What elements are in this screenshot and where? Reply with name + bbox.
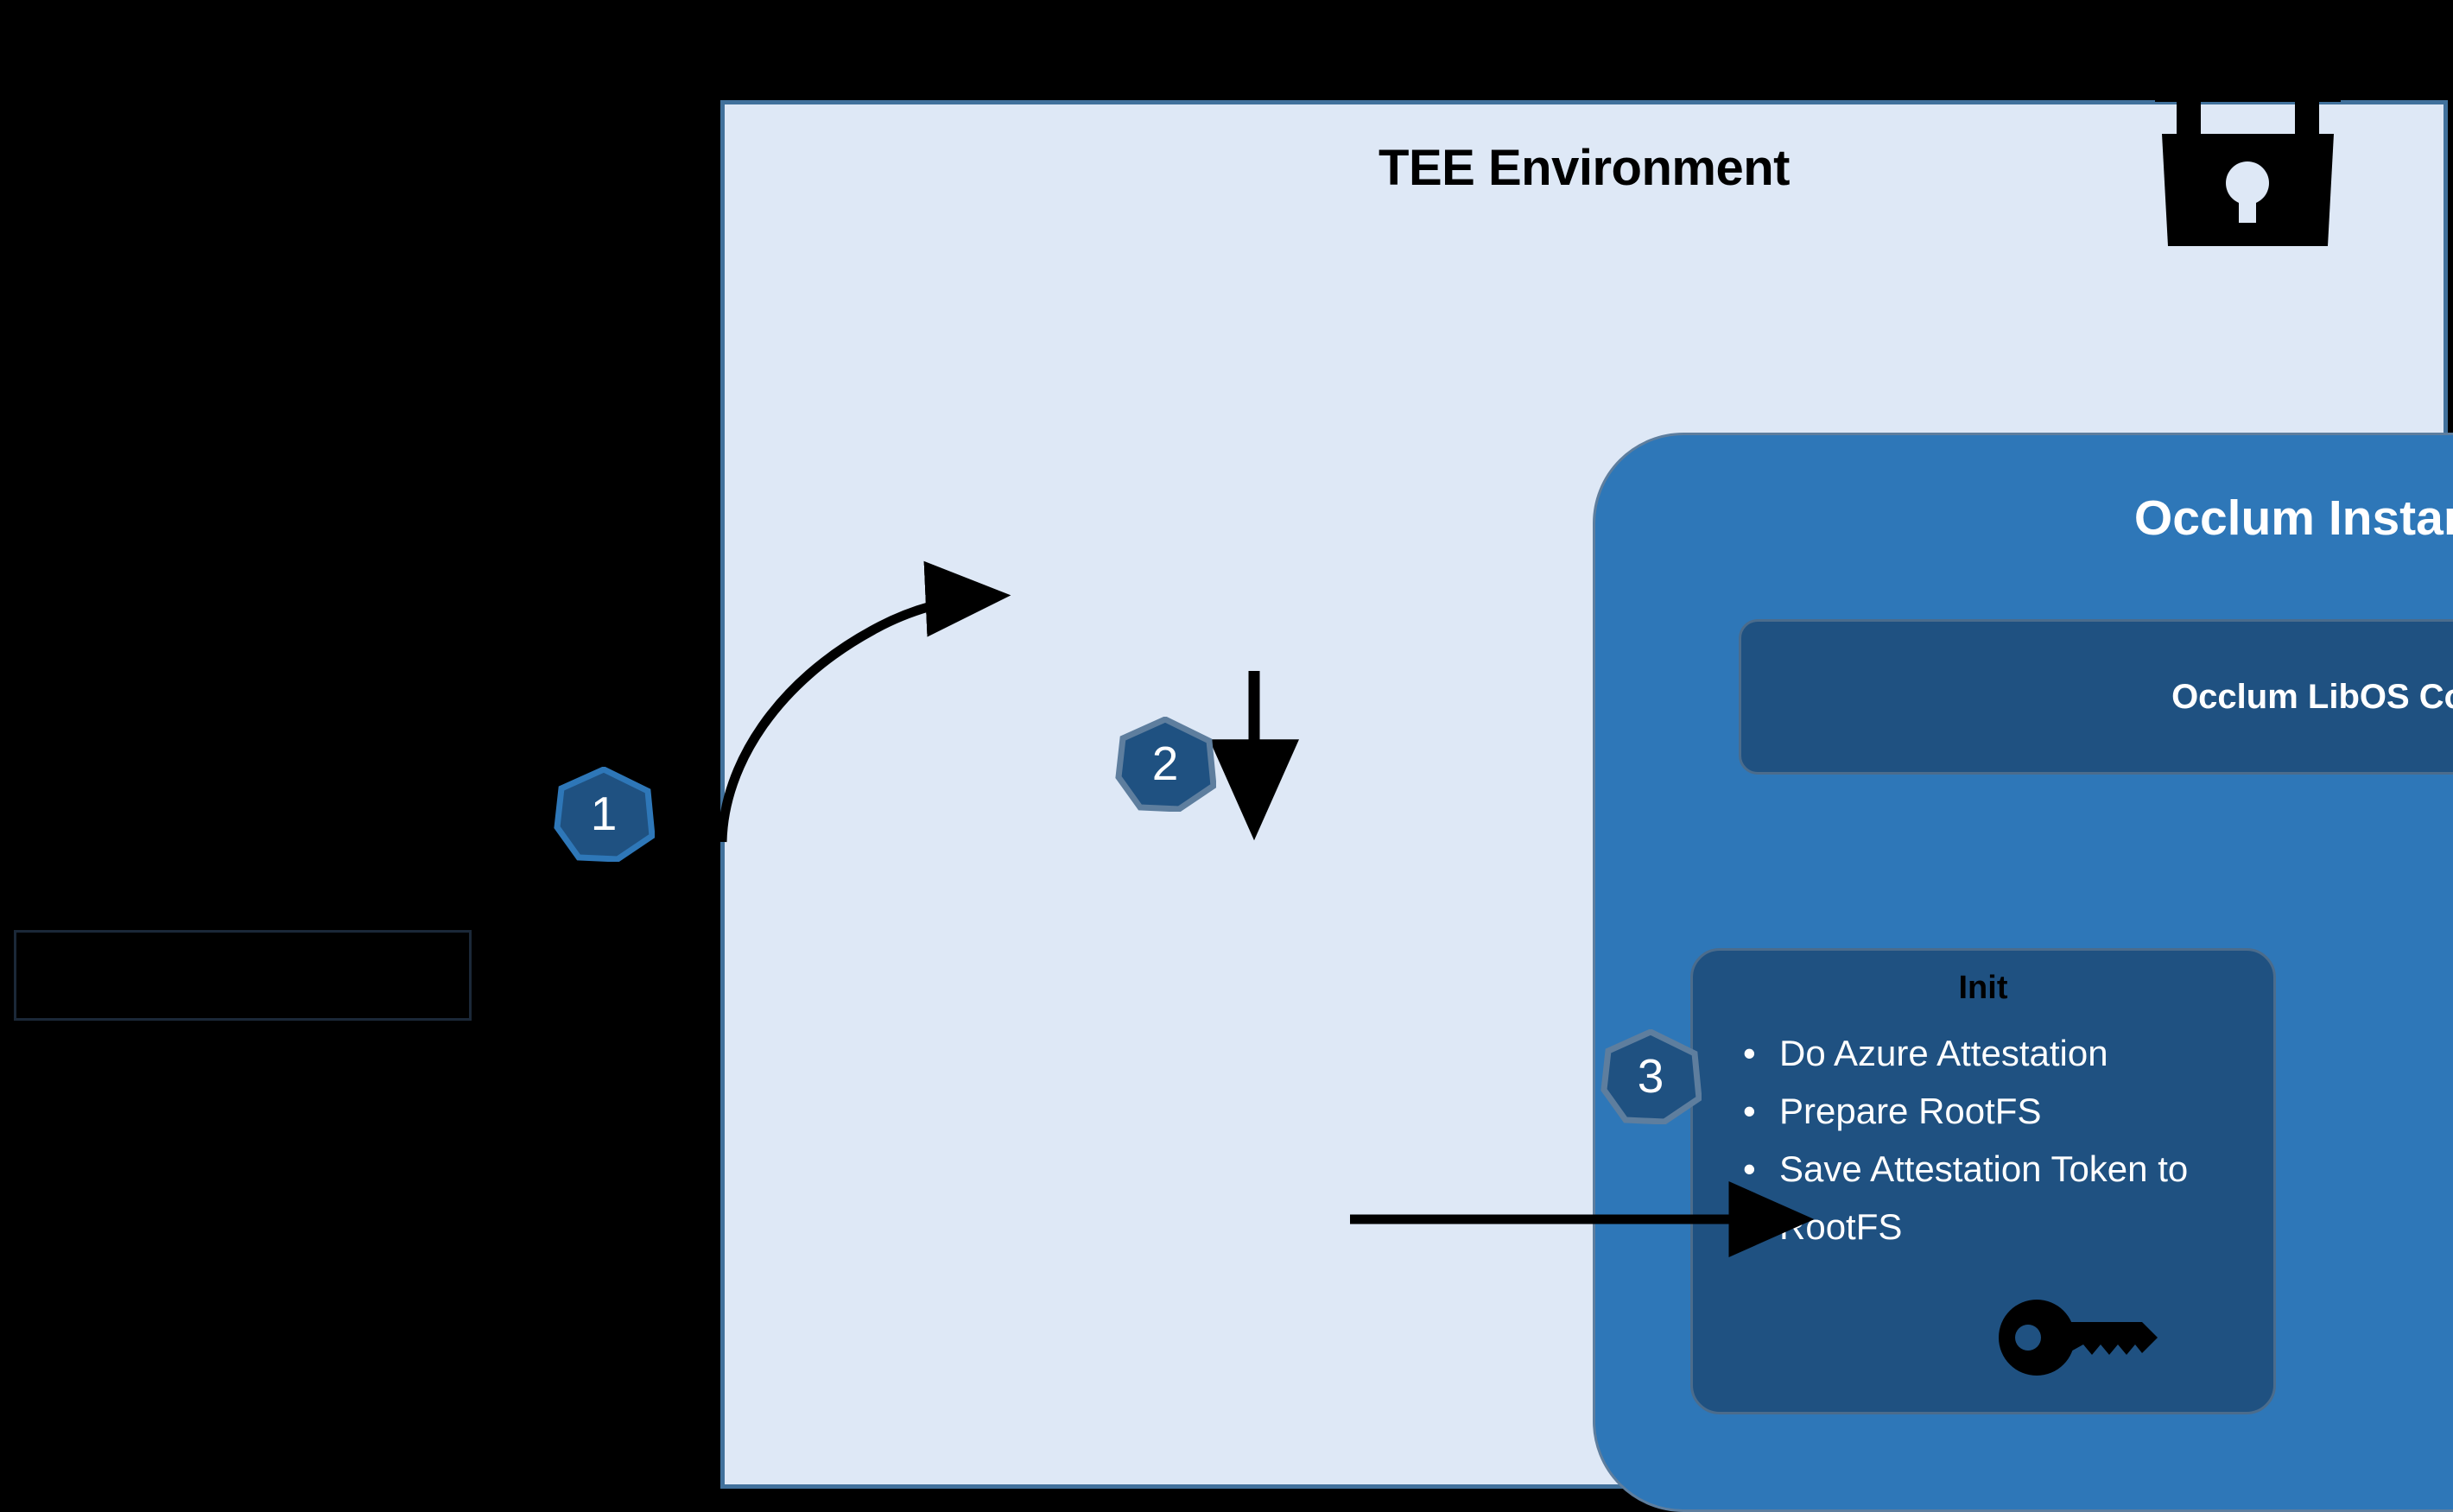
step-badge-1: 1 bbox=[553, 767, 655, 862]
step-badge-3: 3 bbox=[1600, 1029, 1702, 1124]
list-item: Prepare RootFS bbox=[1726, 1082, 2273, 1140]
list-item: Save Attestation Token to RootFS bbox=[1726, 1140, 2273, 1256]
step-badge-1-label: 1 bbox=[553, 767, 655, 862]
init-box: Init Do Azure Attestation Prepare RootFS… bbox=[1690, 948, 2276, 1414]
padlock-icon bbox=[2155, 86, 2341, 259]
empty-placeholder-box bbox=[14, 930, 472, 1021]
list-item: Do Azure Attestation bbox=[1726, 1024, 2273, 1082]
occlum-libos-core-label: Occlum LibOS Core bbox=[2171, 678, 2453, 717]
occlum-instance-title: Occlum Instance bbox=[1595, 490, 2453, 547]
step-badge-2: 2 bbox=[1114, 717, 1216, 812]
init-box-title: Init bbox=[1693, 970, 2273, 1007]
occlum-instance-container: Occlum Instance Occlum LibOS Core Init D… bbox=[1593, 433, 2453, 1512]
step-badge-3-label: 3 bbox=[1600, 1029, 1702, 1124]
occlum-libos-core-box: Occlum LibOS Core bbox=[1739, 619, 2453, 775]
step-badge-2-label: 2 bbox=[1114, 717, 1216, 812]
init-bullet-list: Do Azure Attestation Prepare RootFS Save… bbox=[1726, 1024, 2273, 1256]
tee-environment-panel: TEE Environment Occlum Instance Occlum L… bbox=[720, 100, 2448, 1489]
left-canvas-region bbox=[0, 0, 720, 1493]
key-icon bbox=[1995, 1294, 2168, 1381]
